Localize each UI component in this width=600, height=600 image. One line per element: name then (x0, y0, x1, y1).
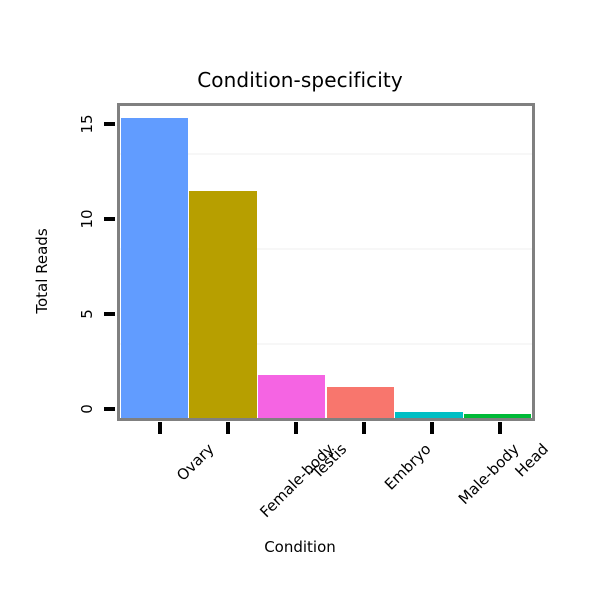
x-tick-mark-testis (294, 422, 298, 434)
x-tick-label-head: Head (511, 440, 551, 480)
x-tick-mark-embryo (362, 422, 366, 434)
y-tick-label-10: 10 (78, 204, 96, 234)
bar-embryo[interactable] (327, 387, 394, 418)
x-tick-mark-ovary (158, 422, 162, 434)
bar-testis[interactable] (258, 375, 325, 418)
y-tick-label-5: 5 (78, 299, 96, 329)
x-tick-label-male-body: Male-body (455, 440, 523, 508)
y-tick-label-15: 15 (78, 109, 96, 139)
x-tick-mark-male-body (430, 422, 434, 434)
y-tick-mark-5 (104, 312, 115, 316)
bar-female-body[interactable] (189, 191, 256, 418)
x-axis-title: Condition (0, 538, 600, 556)
y-tick-label-0: 0 (78, 394, 96, 424)
chart-title: Condition-specificity (0, 68, 600, 92)
x-tick-mark-head (498, 422, 502, 434)
y-tick-mark-15 (104, 122, 115, 126)
x-tick-label-ovary: Ovary (173, 440, 217, 484)
bar-male-body[interactable] (395, 412, 462, 418)
x-tick-mark-female-body (226, 422, 230, 434)
bar-head[interactable] (464, 414, 531, 418)
y-tick-mark-10 (104, 217, 115, 221)
y-tick-mark-0 (104, 407, 115, 411)
y-axis-title: Total Reads (33, 211, 51, 331)
bar-series (120, 106, 532, 418)
plot-panel-inner (120, 106, 532, 418)
plot-panel (117, 103, 535, 421)
bar-ovary[interactable] (121, 118, 188, 418)
bar-chart-figure: Condition-specificity Total Reads 0 5 10… (0, 0, 600, 600)
x-tick-label-embryo: Embryo (381, 440, 435, 494)
